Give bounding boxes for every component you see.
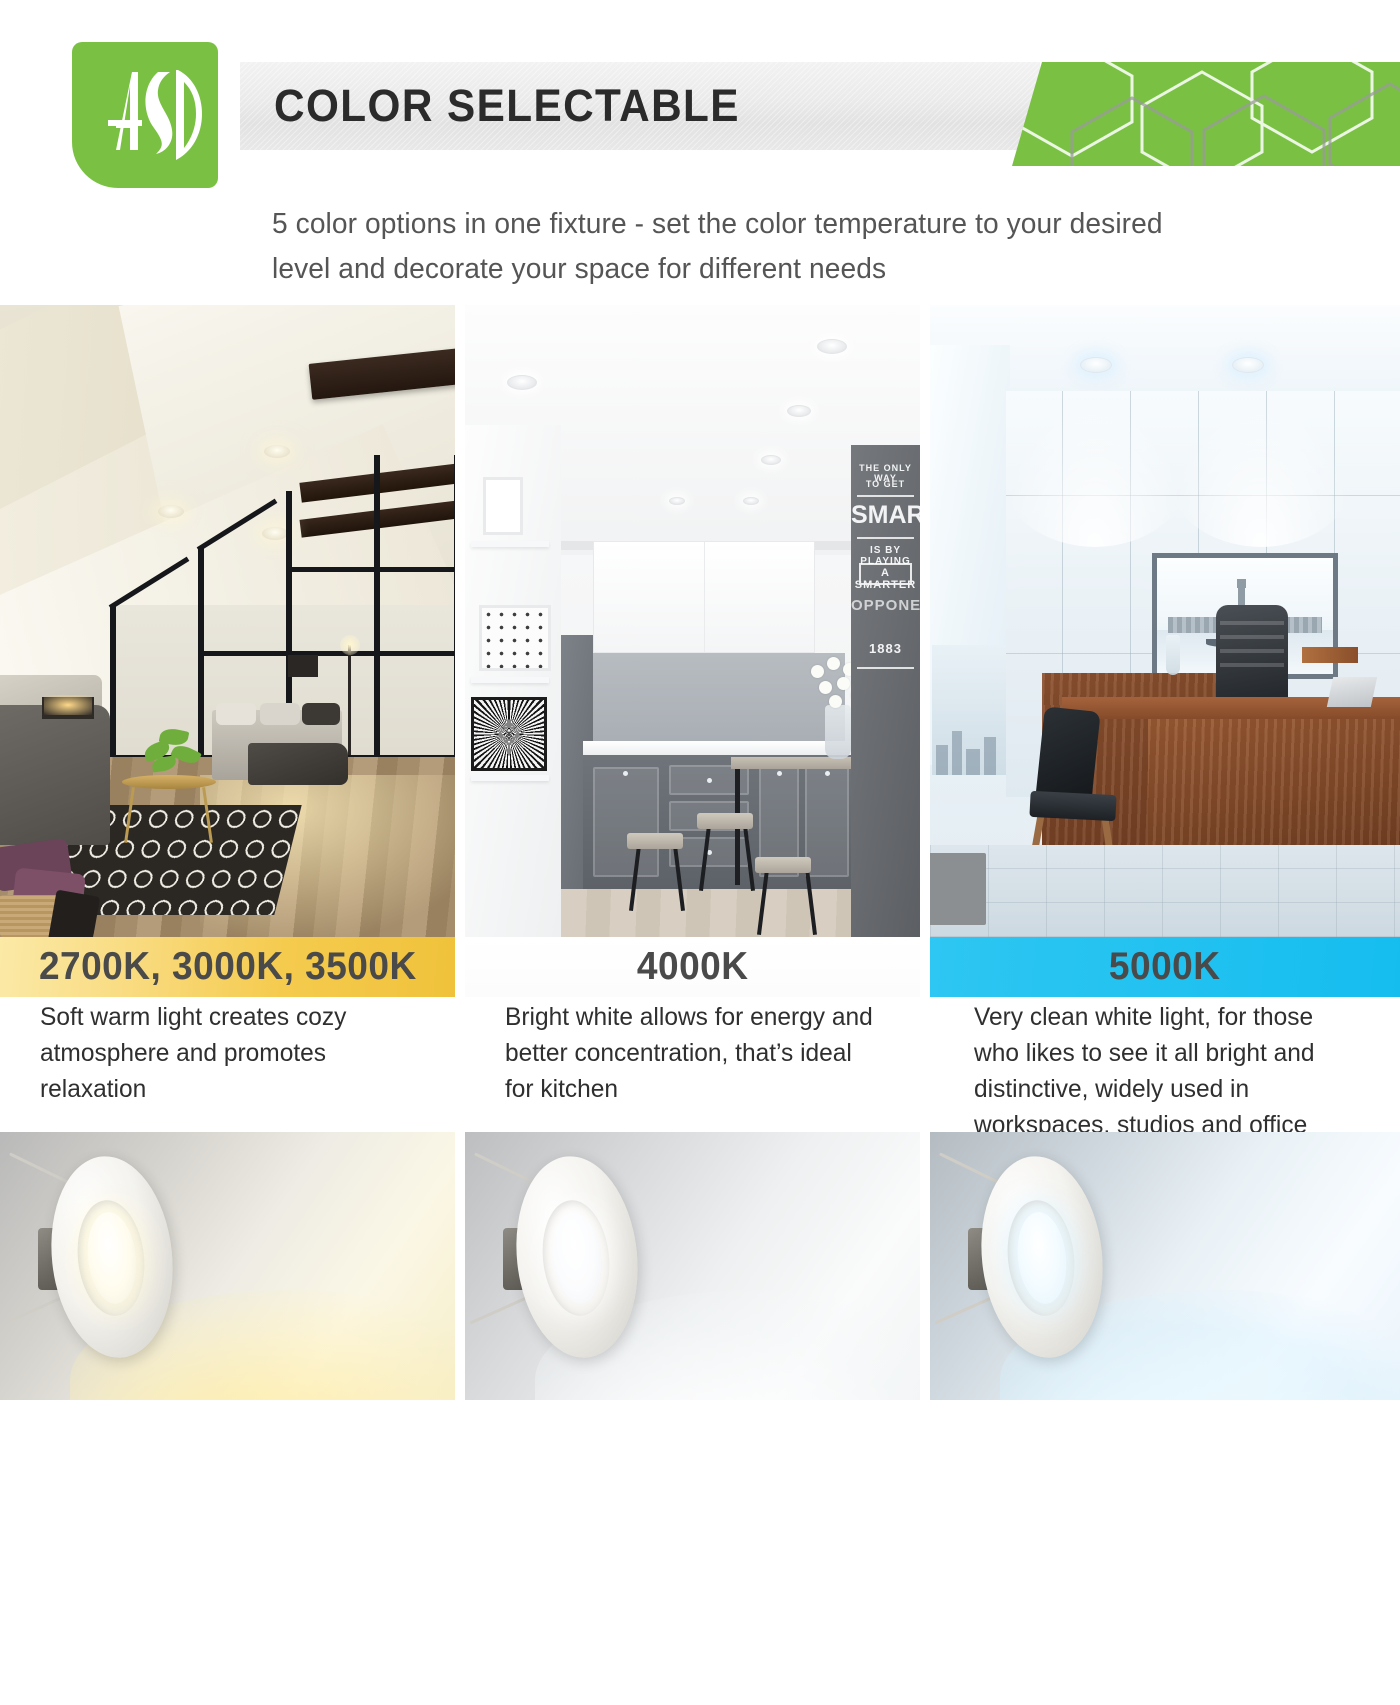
stool [627, 833, 683, 849]
recessed-downlight-neutral-white [465, 1132, 920, 1400]
framed-dot-art [479, 605, 551, 671]
cool-white-office-photo [930, 305, 1400, 937]
warm-bedroom-loft-photo [0, 305, 455, 937]
chalk-year: 1883 [851, 641, 920, 656]
banner-4000k: 4000K [465, 937, 920, 997]
wall-wash-light-arc [1166, 397, 1356, 547]
upper-cabinets [593, 541, 815, 653]
title-bar: COLOR SELECTABLE [240, 62, 1040, 150]
downlight-trim [52, 1156, 172, 1358]
wall-wash-light-arc [1000, 397, 1190, 547]
page-header: COLOR SELECTABLE [0, 0, 1400, 188]
desk-books [1302, 647, 1358, 663]
ceiling-downlight-icon [1080, 357, 1112, 373]
downlight-trim [982, 1156, 1102, 1358]
recessed-downlight-warm-white [0, 1132, 455, 1400]
column-divider [455, 610, 465, 1705]
floor-mat [930, 853, 986, 925]
ceiling-downlight-icon [743, 497, 759, 505]
ceiling-downlight-icon [507, 375, 537, 390]
guest-chair [1030, 709, 1124, 859]
window-wall [930, 345, 1010, 765]
chalk-line-2: TO GET [851, 479, 920, 489]
framed-burst-art [471, 697, 547, 771]
chalkboard-wall: THE ONLY WAY TO GET SMARTER IS BY PLAYIN… [851, 445, 920, 937]
bright-white-kitchen-photo: THE ONLY WAY TO GET SMARTER IS BY PLAYIN… [465, 305, 920, 937]
page-subtitle: 5 color options in one fixture - set the… [272, 202, 1202, 292]
description-5000k: Very clean white light, for those who li… [930, 999, 1400, 1143]
column-4000k: THE ONLY WAY TO GET SMARTER IS BY PLAYIN… [465, 305, 920, 1400]
asd-monogram-logo [72, 42, 218, 188]
hexagon-pattern-graphic [1012, 62, 1400, 166]
column-2700k-3500k: 2700K, 3000K, 3500K Soft warm light crea… [0, 305, 455, 1400]
recessed-downlight-daylight [930, 1132, 1400, 1400]
banner-2700k-3500k: 2700K, 3000K, 3500K [0, 937, 455, 997]
ceiling-downlight-icon [1232, 357, 1264, 373]
stool [755, 857, 811, 873]
ceiling-downlight-icon [787, 405, 811, 417]
column-5000k: 5000K Very clean white light, for those … [930, 305, 1400, 1400]
potted-plant [142, 725, 204, 781]
banner-5000k: 5000K [930, 937, 1400, 997]
flower-vase [825, 705, 851, 759]
description-4000k: Bright white allows for energy and bette… [465, 999, 920, 1107]
executive-chair [1216, 605, 1288, 701]
ceiling-downlight-icon [817, 339, 847, 354]
shelf-decor-frame [483, 477, 523, 535]
chalk-line-6: OPPONENT [851, 597, 920, 614]
chalk-line-5: A SMARTER [851, 567, 920, 591]
banner-label: 5000K [930, 945, 1400, 989]
ceiling-downlight-icon [761, 455, 781, 465]
stool [697, 813, 753, 829]
chalk-line-3: SMARTER [851, 501, 920, 530]
banner-label: 4000K [465, 945, 920, 989]
laptop [1327, 677, 1377, 707]
column-divider [920, 610, 930, 1705]
wall-art [288, 655, 318, 677]
description-2700k-3500k: Soft warm light creates cozy atmosphere … [0, 999, 455, 1107]
tile-floor [930, 845, 1400, 937]
page-title: COLOR SELECTABLE [274, 80, 770, 132]
downlight-trim [517, 1156, 637, 1358]
color-temperature-columns: 2700K, 3000K, 3500K Soft warm light crea… [0, 305, 1400, 1400]
gray-sofa [0, 705, 110, 845]
ceiling-downlight-icon [669, 497, 685, 505]
banner-label: 2700K, 3000K, 3500K [0, 945, 455, 989]
